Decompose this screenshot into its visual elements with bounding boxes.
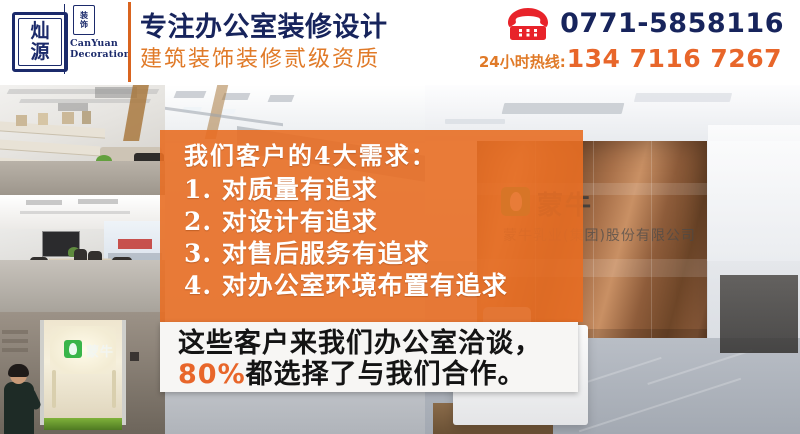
- header-slogan: 专注办公室装修设计 建筑装饰装修贰级资质: [128, 2, 428, 82]
- conversion-percent: 80%: [178, 359, 246, 390]
- hotline-label: 24小时热线:: [479, 52, 566, 72]
- mini-seal-char-2: 饰: [80, 20, 88, 29]
- brand-english-line-2: Decoration: [70, 49, 118, 60]
- logo-seal-char-1: 灿: [30, 21, 49, 42]
- banner-header: 灿 源 装 饰 CanYuan Decoration 专注办公室装修设计 建筑装…: [0, 0, 800, 85]
- brand-english-block: 装 饰 CanYuan Decoration: [64, 4, 118, 74]
- glass-entrance-photo: 蒙牛: [0, 312, 165, 434]
- brand-english-line-1: CanYuan: [70, 38, 118, 49]
- contact-block: 0771-5858116 24小时热线: 134 7116 7267: [484, 4, 784, 80]
- wall-sign-icon: [2, 330, 28, 356]
- promo-banner: 灿 源 装 饰 CanYuan Decoration 专注办公室装修设计 建筑装…: [0, 0, 800, 434]
- needs-item-2: 2. 对设计有追求: [184, 206, 583, 238]
- phone-hotline-row: 24小时热线: 134 7116 7267: [479, 46, 782, 72]
- office-lounge-photo: [0, 85, 165, 195]
- cta-line-2-rest: 都选择了与我们合作。: [246, 359, 526, 390]
- person-figure: [2, 366, 36, 434]
- mengniu-logo-icon: [64, 340, 82, 358]
- telephone-icon: [504, 6, 552, 42]
- door-brand-text: 蒙牛: [86, 341, 114, 360]
- hotline-number[interactable]: 134 7116 7267: [567, 46, 782, 72]
- cta-line-1: 这些客户来我们办公室洽谈，: [178, 328, 578, 359]
- conversion-rate-panel: 这些客户来我们办公室洽谈， 80%都选择了与我们合作。: [160, 322, 578, 392]
- logo-seal-icon: 灿 源: [12, 12, 68, 72]
- needs-item-4: 4. 对办公室环境布置有追求: [184, 270, 583, 302]
- slogan-main-text: 专注办公室装修设计: [140, 11, 428, 44]
- needs-item-1: 1. 对质量有追求: [184, 174, 583, 206]
- cta-line-2: 80%都选择了与我们合作。: [178, 359, 578, 390]
- phone-primary-row: 0771-5858116: [504, 6, 784, 42]
- slogan-sub-text: 建筑装饰装修贰级资质: [140, 46, 428, 74]
- meeting-room-photo: [0, 195, 165, 312]
- customer-needs-panel: 我们客户的4大需求： 1. 对质量有追求 2. 对设计有追求 3. 对售后服务有…: [160, 130, 583, 322]
- logo-seal-char-2: 源: [30, 42, 49, 63]
- decoration-seal-icon: 装 饰: [73, 5, 95, 35]
- needs-panel-title: 我们客户的4大需求：: [184, 140, 583, 172]
- phone-number-primary[interactable]: 0771-5858116: [560, 9, 784, 39]
- needs-item-3: 3. 对售后服务有追求: [184, 238, 583, 270]
